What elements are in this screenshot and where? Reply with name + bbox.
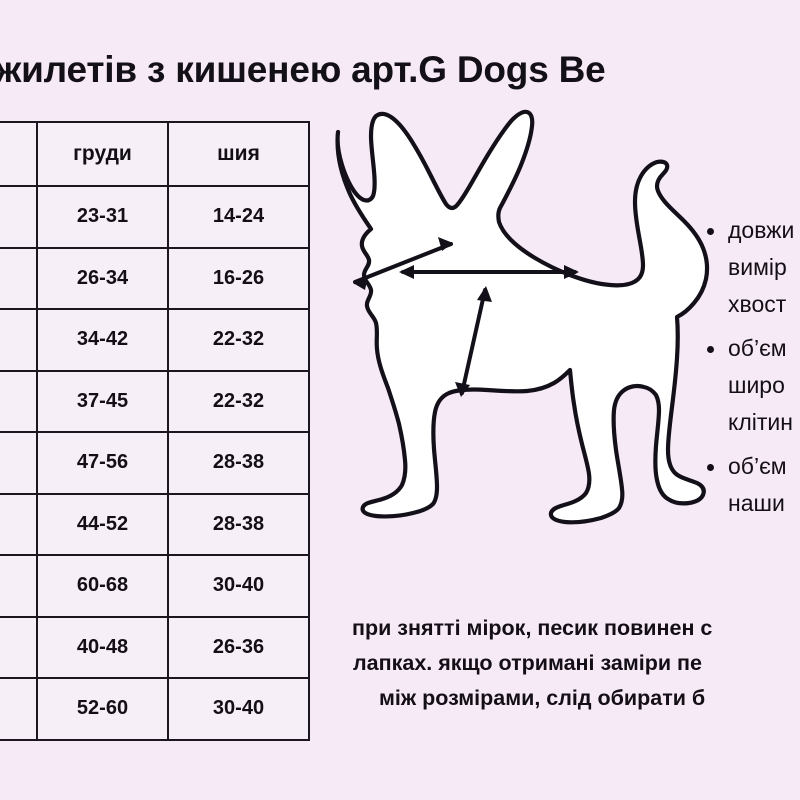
table-row: 34-42 22-32 xyxy=(0,309,309,371)
bullet-2-line-3: клітин xyxy=(728,404,800,441)
cell-neck: 28-38 xyxy=(168,494,309,556)
cell-chest: 40-48 xyxy=(37,617,168,679)
bullet-2-line-2: широ xyxy=(728,367,800,404)
bullet-2-line-1: об’єм xyxy=(728,330,800,367)
cell-size xyxy=(0,678,37,740)
cell-size xyxy=(0,617,37,679)
size-chart-page: іри жилетів з кишенею арт.G Dogs Be а гр… xyxy=(0,0,800,800)
bullet-3-line-2: наши xyxy=(728,485,800,522)
bullet-1-line-1: довжи xyxy=(728,212,800,249)
cell-chest: 34-42 xyxy=(37,309,168,371)
cell-chest: 26-34 xyxy=(37,248,168,310)
table-row: 52-60 30-40 xyxy=(0,678,309,740)
dog-outline-path xyxy=(338,112,707,522)
cell-neck: 30-40 xyxy=(168,555,309,617)
table-row: 37-45 22-32 xyxy=(0,371,309,433)
measurement-instructions-list: довжи вимір хвост об’єм широ клітин об’є… xyxy=(700,212,800,529)
dog-body-shape xyxy=(338,112,707,522)
table-row: 26-34 16-26 xyxy=(0,248,309,310)
cell-neck: 16-26 xyxy=(168,248,309,310)
cell-neck: 28-38 xyxy=(168,432,309,494)
table-row: 44-52 28-38 xyxy=(0,494,309,556)
cell-chest: 52-60 xyxy=(37,678,168,740)
bullet-3-line-1: об’єм xyxy=(728,448,800,485)
cell-neck: 22-32 xyxy=(168,371,309,433)
bullet-1-line-2: вимір xyxy=(728,249,800,286)
page-title: іри жилетів з кишенею арт.G Dogs Be xyxy=(0,46,800,94)
cell-size xyxy=(0,371,37,433)
list-item: об’єм наши xyxy=(700,448,800,522)
table-row: 40-48 26-36 xyxy=(0,617,309,679)
cell-size xyxy=(0,248,37,310)
column-header-neck: шия xyxy=(168,122,309,186)
table-header-row: а груди шия xyxy=(0,122,309,186)
note-line-3: між розмірами, слід обирати б xyxy=(352,681,800,716)
cell-neck: 26-36 xyxy=(168,617,309,679)
cell-size xyxy=(0,309,37,371)
column-header-size: а xyxy=(0,122,37,186)
list-item: об’єм широ клітин xyxy=(700,330,800,441)
table-row: 23-31 14-24 xyxy=(0,186,309,248)
cell-chest: 60-68 xyxy=(37,555,168,617)
measurement-note: при знятті мірок, песик повинен с лапках… xyxy=(352,611,800,716)
table-row: 60-68 30-40 xyxy=(0,555,309,617)
bullet-1-line-3: хвост xyxy=(728,286,800,323)
cell-size xyxy=(0,555,37,617)
cell-size xyxy=(0,186,37,248)
cell-size xyxy=(0,432,37,494)
cell-size xyxy=(0,494,37,556)
table-row: 47-56 28-38 xyxy=(0,432,309,494)
note-line-2: лапках. якщо отримані заміри пе xyxy=(352,646,800,681)
cell-chest: 23-31 xyxy=(37,186,168,248)
list-item: довжи вимір хвост xyxy=(700,212,800,323)
note-line-1: при знятті мірок, песик повинен с xyxy=(352,611,800,646)
cell-chest: 44-52 xyxy=(37,494,168,556)
size-table: а груди шия 23-31 14-24 26-34 16-26 34-4… xyxy=(0,121,310,741)
cell-neck: 14-24 xyxy=(168,186,309,248)
cell-neck: 30-40 xyxy=(168,678,309,740)
dog-silhouette-illustration xyxy=(325,108,715,608)
column-header-chest: груди xyxy=(37,122,168,186)
cell-chest: 47-56 xyxy=(37,432,168,494)
cell-chest: 37-45 xyxy=(37,371,168,433)
cell-neck: 22-32 xyxy=(168,309,309,371)
